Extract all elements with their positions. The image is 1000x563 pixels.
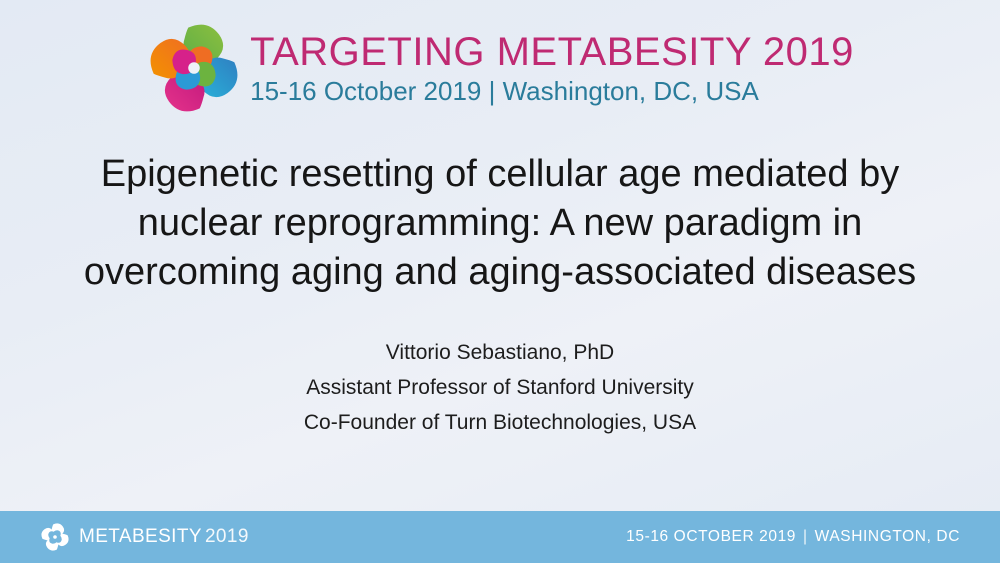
footer-brand-word: METABESITY: [79, 526, 202, 547]
conference-dates-location: 15-16 October 2019 | Washington, DC, USA: [250, 75, 759, 107]
footer-brand-block: METABESITY2019: [40, 522, 249, 552]
presentation-title-line-1: Epigenetic resetting of cellular age med…: [28, 150, 972, 199]
speaker-affiliation: Assistant Professor of Stanford Universi…: [0, 370, 1000, 405]
footer-event-details: 15-16 OCTOBER 2019|WASHINGTON, DC: [626, 528, 960, 546]
presentation-title: Epigenetic resetting of cellular age med…: [28, 150, 972, 297]
speaker-role: Co-Founder of Turn Biotechnologies, USA: [0, 405, 1000, 440]
speaker-name: Vittorio Sebastiano, PhD: [0, 335, 1000, 370]
presentation-title-line-2: nuclear reprogramming: A new paradigm in: [28, 199, 972, 248]
footer-brand-text: METABESITY2019: [79, 526, 249, 548]
conference-title: TARGETING METABESITY 2019: [250, 29, 854, 75]
footer-separator: |: [803, 528, 808, 545]
presentation-title-line-3: overcoming aging and aging-associated di…: [28, 248, 972, 297]
presentation-slide: TARGETING METABESITY 2019 15-16 October …: [0, 0, 1000, 563]
footer-event-date: 15-16 OCTOBER 2019: [626, 528, 796, 545]
conference-title-block: TARGETING METABESITY 2019 15-16 October …: [250, 29, 854, 107]
slide-footer-bar: METABESITY2019 15-16 OCTOBER 2019|WASHIN…: [0, 511, 1000, 563]
footer-brand-year: 2019: [205, 526, 249, 547]
footer-event-location: WASHINGTON, DC: [815, 528, 960, 545]
conference-branding-header: TARGETING METABESITY 2019 15-16 October …: [0, 20, 1000, 116]
speaker-info: Vittorio Sebastiano, PhD Assistant Profe…: [0, 335, 1000, 440]
metabesity-pinwheel-logo-white: [40, 522, 70, 552]
metabesity-pinwheel-logo: [146, 20, 242, 116]
